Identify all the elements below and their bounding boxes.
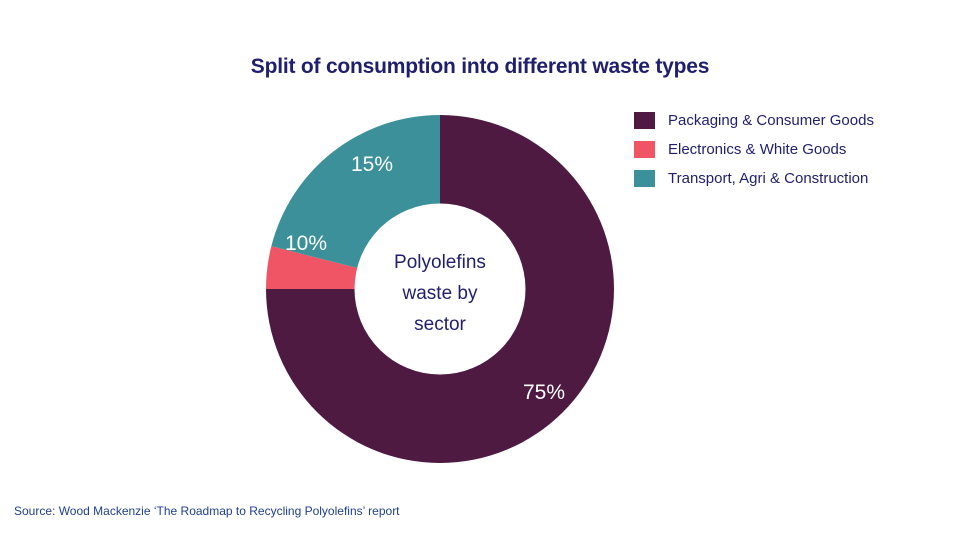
donut-center-line-1: Polyolefins	[394, 252, 486, 273]
chart-legend: Packaging & Consumer Goods Electronics &…	[634, 106, 954, 193]
donut-center-line-3: sector	[414, 314, 466, 335]
legend-item-label: Packaging & Consumer Goods	[668, 112, 874, 129]
legend-item-electronics[interactable]: Electronics & White Goods	[634, 135, 954, 164]
legend-item-label: Transport, Agri & Construction	[668, 170, 868, 187]
legend-swatch-icon	[634, 170, 655, 187]
slice-label-packaging: 75%	[523, 381, 565, 404]
donut-svg: 15% 10% 75% Polyolefins waste by sector	[266, 115, 614, 463]
donut-chart: 15% 10% 75% Polyolefins waste by sector	[266, 115, 614, 463]
legend-item-label: Electronics & White Goods	[668, 141, 846, 158]
page-title: Split of consumption into different wast…	[0, 55, 960, 79]
legend-item-packaging[interactable]: Packaging & Consumer Goods	[634, 106, 954, 135]
source-note: Source: Wood Mackenzie ‘The Roadmap to R…	[14, 504, 400, 518]
legend-swatch-icon	[634, 141, 655, 158]
chart-canvas: Split of consumption into different wast…	[0, 0, 960, 540]
slice-label-electronics: 10%	[285, 232, 327, 255]
donut-center-line-2: waste by	[402, 283, 478, 304]
slice-label-transport: 15%	[351, 153, 393, 176]
legend-swatch-icon	[634, 112, 655, 129]
legend-item-transport[interactable]: Transport, Agri & Construction	[634, 164, 954, 193]
